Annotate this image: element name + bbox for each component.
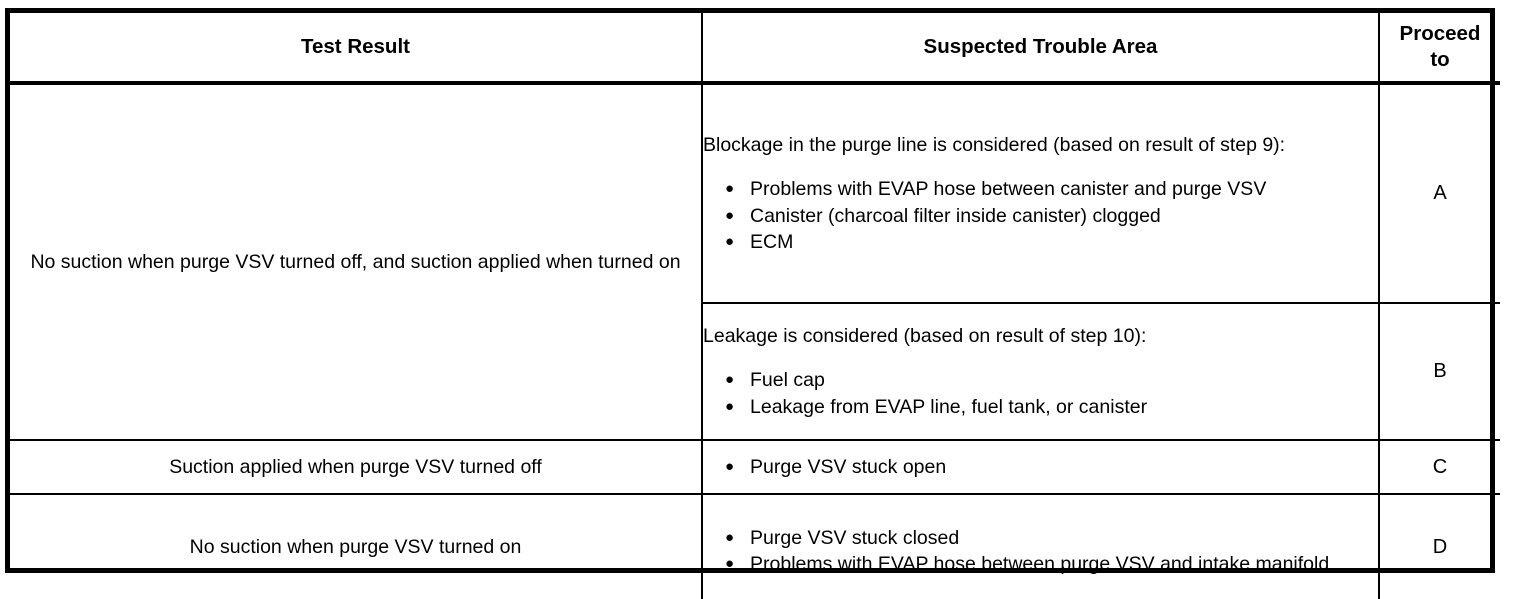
list-item: ● Problems with EVAP hose between purge … [703,551,1378,578]
table-row: Suction applied when purge VSV turned of… [10,440,1500,494]
list-item-label: Fuel cap [750,369,825,391]
table-row: No suction when purge VSV turned off, an… [10,83,1500,303]
column-header-suspected-trouble-area: Suspected Trouble Area [702,13,1379,83]
test-result-cell: No suction when purge VSV turned on [10,494,702,599]
proceed-to-cell: D [1379,494,1500,599]
list-item: ● Leakage from EVAP line, fuel tank, or … [703,394,1378,421]
list-item-label: Purge VSV stuck open [750,456,946,478]
list-item-label: Purge VSV stuck closed [750,527,959,549]
list-item: ● Problems with EVAP hose between canist… [703,176,1378,203]
trouble-area-bullet-list: ● Fuel cap ● Leakage from EVAP line, fue… [703,367,1378,420]
list-item-label: Leakage from EVAP line, fuel tank, or ca… [750,396,1147,418]
trouble-area-table: Test Result Suspected Trouble Area Proce… [10,13,1500,599]
column-header-proceed-to-line1: Proceed [1400,22,1481,45]
trouble-area-cell: Leakage is considered (based on result o… [702,303,1379,440]
list-item-label: Canister (charcoal filter inside caniste… [750,205,1161,227]
column-header-proceed-to-line2: to [1430,48,1449,71]
trouble-area-lead: Leakage is considered (based on result o… [703,323,1378,350]
list-item: ● Purge VSV stuck open [703,454,1378,481]
bullet-icon: ● [725,525,734,552]
column-header-test-result: Test Result [10,13,702,83]
list-item-label: Problems with EVAP hose between purge VS… [750,553,1329,575]
trouble-area-lead: Blockage in the purge line is considered… [703,132,1378,159]
proceed-to-cell: C [1379,440,1500,494]
diagnostic-table: Test Result Suspected Trouble Area Proce… [5,8,1495,573]
list-item-label: Problems with EVAP hose between canister… [750,178,1266,200]
list-item: ● Purge VSV stuck closed [703,525,1378,552]
bullet-icon: ● [725,551,734,578]
table-row: No suction when purge VSV turned on ● Pu… [10,494,1500,599]
list-item-label: ECM [750,231,793,253]
trouble-area-bullet-list: ● Purge VSV stuck closed ● Problems with… [703,525,1378,578]
list-item: ● ECM [703,229,1378,256]
list-item: ● Canister (charcoal filter inside canis… [703,203,1378,230]
test-result-cell: Suction applied when purge VSV turned of… [10,440,702,494]
trouble-area-cell: Blockage in the purge line is considered… [702,83,1379,303]
trouble-area-bullet-list: ● Purge VSV stuck open [703,454,1378,481]
table-header-row: Test Result Suspected Trouble Area Proce… [10,13,1500,83]
trouble-area-cell: ● Purge VSV stuck open [702,440,1379,494]
proceed-to-cell: B [1379,303,1500,440]
bullet-icon: ● [725,454,734,481]
column-header-proceed-to: Proceed to [1379,13,1500,83]
bullet-icon: ● [725,176,734,203]
bullet-icon: ● [725,394,734,421]
bullet-icon: ● [725,229,734,256]
table-header: Test Result Suspected Trouble Area Proce… [10,13,1500,83]
list-item: ● Fuel cap [703,367,1378,394]
bullet-icon: ● [725,367,734,394]
table-body: No suction when purge VSV turned off, an… [10,83,1500,599]
test-result-cell: No suction when purge VSV turned off, an… [10,83,702,440]
trouble-area-bullet-list: ● Problems with EVAP hose between canist… [703,176,1378,256]
trouble-area-cell: ● Purge VSV stuck closed ● Problems with… [702,494,1379,599]
proceed-to-cell: A [1379,83,1500,303]
bullet-icon: ● [725,203,734,230]
